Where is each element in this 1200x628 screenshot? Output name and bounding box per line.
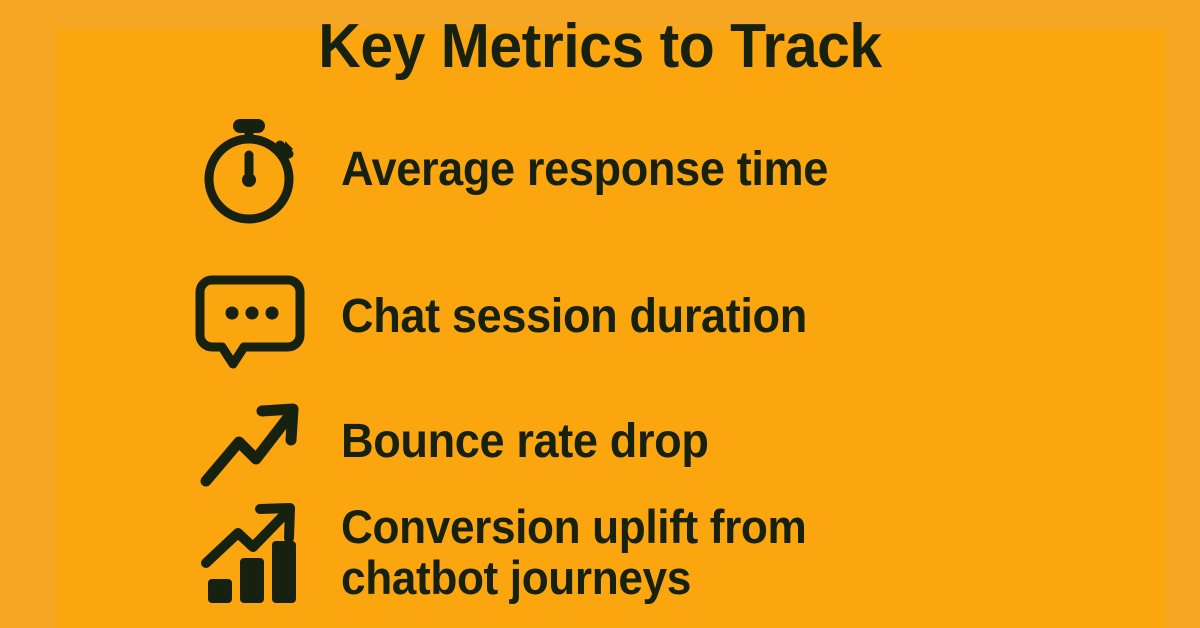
- metric-row: Conversion uplift from chatbot journeys: [185, 490, 836, 615]
- bar-chart-growth-icon: [185, 490, 315, 615]
- metric-label: Conversion uplift from chatbot journeys: [341, 502, 806, 604]
- stopwatch-icon: [185, 108, 315, 233]
- metric-row: Chat session duration: [185, 255, 837, 380]
- metric-row: Average response time: [185, 108, 859, 233]
- chat-bubble-dots-icon: [185, 255, 315, 380]
- metric-label: Chat session duration: [341, 292, 807, 343]
- metric-label: Bounce rate drop: [341, 417, 709, 468]
- page-title: Key Metrics to Track: [30, 16, 1170, 78]
- metric-row: Bounce rate drop: [185, 380, 732, 505]
- infographic-card: Key Metrics to Track Average response ti…: [0, 0, 1200, 628]
- trend-arrow-up-icon: [185, 380, 315, 505]
- metric-label: Average response time: [341, 145, 828, 196]
